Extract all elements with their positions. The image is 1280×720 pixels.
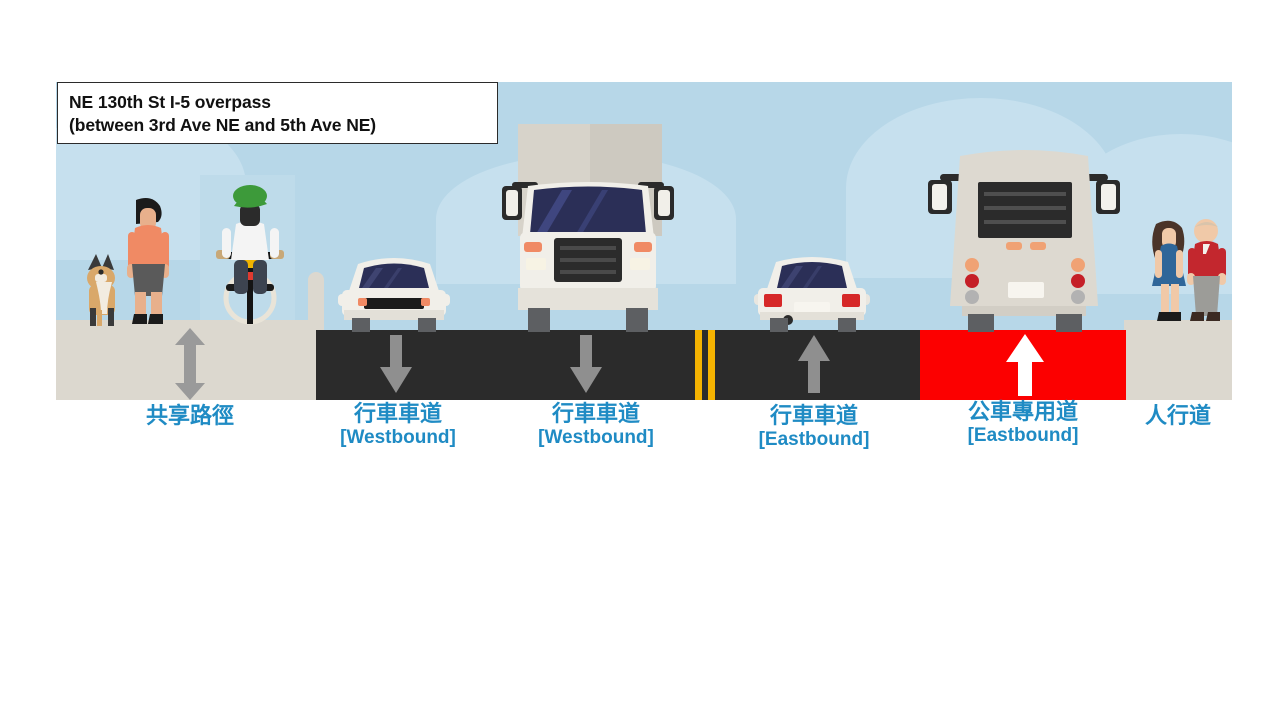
- lane-label-en: [Westbound]: [313, 427, 483, 449]
- lane-label-travel-lane-wb-2: 行車車道 [Westbound]: [511, 401, 681, 449]
- lane-label-bus-lane-eb: 公車專用道 [Eastbound]: [938, 399, 1108, 447]
- bicycle-icon: [216, 250, 284, 324]
- center-line-left: [695, 330, 702, 400]
- lane-label-en: [Westbound]: [511, 427, 681, 449]
- box-truck-westbound: [498, 124, 678, 332]
- bus-eastbound: [916, 140, 1132, 332]
- lane-label-en: [Eastbound]: [729, 429, 899, 451]
- lane-label-cn: 行車車道: [729, 403, 899, 429]
- lane-label-sidewalk: 人行道: [1108, 403, 1248, 429]
- lane-label-en: [Eastbound]: [938, 425, 1108, 447]
- title-line-1: NE 130th St I-5 overpass: [69, 91, 497, 114]
- car-westbound: [334, 246, 454, 332]
- woman-icon: [1152, 221, 1186, 321]
- cyclist: [204, 180, 296, 330]
- man-icon: [1187, 219, 1226, 321]
- pedestrian-pair: [1144, 218, 1230, 330]
- arrow-up-bus-lane: [1006, 334, 1044, 396]
- car-eastbound: [750, 246, 874, 332]
- lane-label-cn: 行車車道: [511, 401, 681, 427]
- arrow-double-up-down: [172, 328, 208, 400]
- dog-icon: [87, 254, 115, 326]
- lane-label-shared-path: 共享路徑: [120, 403, 260, 429]
- arrow-down-wb-1: [380, 335, 412, 393]
- arrow-down-wb-2: [570, 335, 602, 393]
- lane-label-cn: 共享路徑: [120, 403, 260, 429]
- title-line-2: (between 3rd Ave NE and 5th Ave NE): [69, 114, 497, 137]
- title-callout-box: NE 130th St I-5 overpass (between 3rd Av…: [57, 82, 498, 144]
- sidewalk-surface: [1124, 320, 1232, 400]
- lane-label-cn: 人行道: [1108, 403, 1248, 429]
- person-icon: [127, 198, 169, 324]
- lane-label-cn: 公車專用道: [938, 399, 1108, 425]
- arrow-up-eb-1: [798, 335, 830, 393]
- pedestrian-with-dog: [74, 192, 184, 332]
- lane-label-travel-lane-wb-1: 行車車道 [Westbound]: [313, 401, 483, 449]
- center-line-right: [708, 330, 715, 400]
- lane-label-travel-lane-eb-1: 行車車道 [Eastbound]: [729, 403, 899, 451]
- lane-label-cn: 行車車道: [313, 401, 483, 427]
